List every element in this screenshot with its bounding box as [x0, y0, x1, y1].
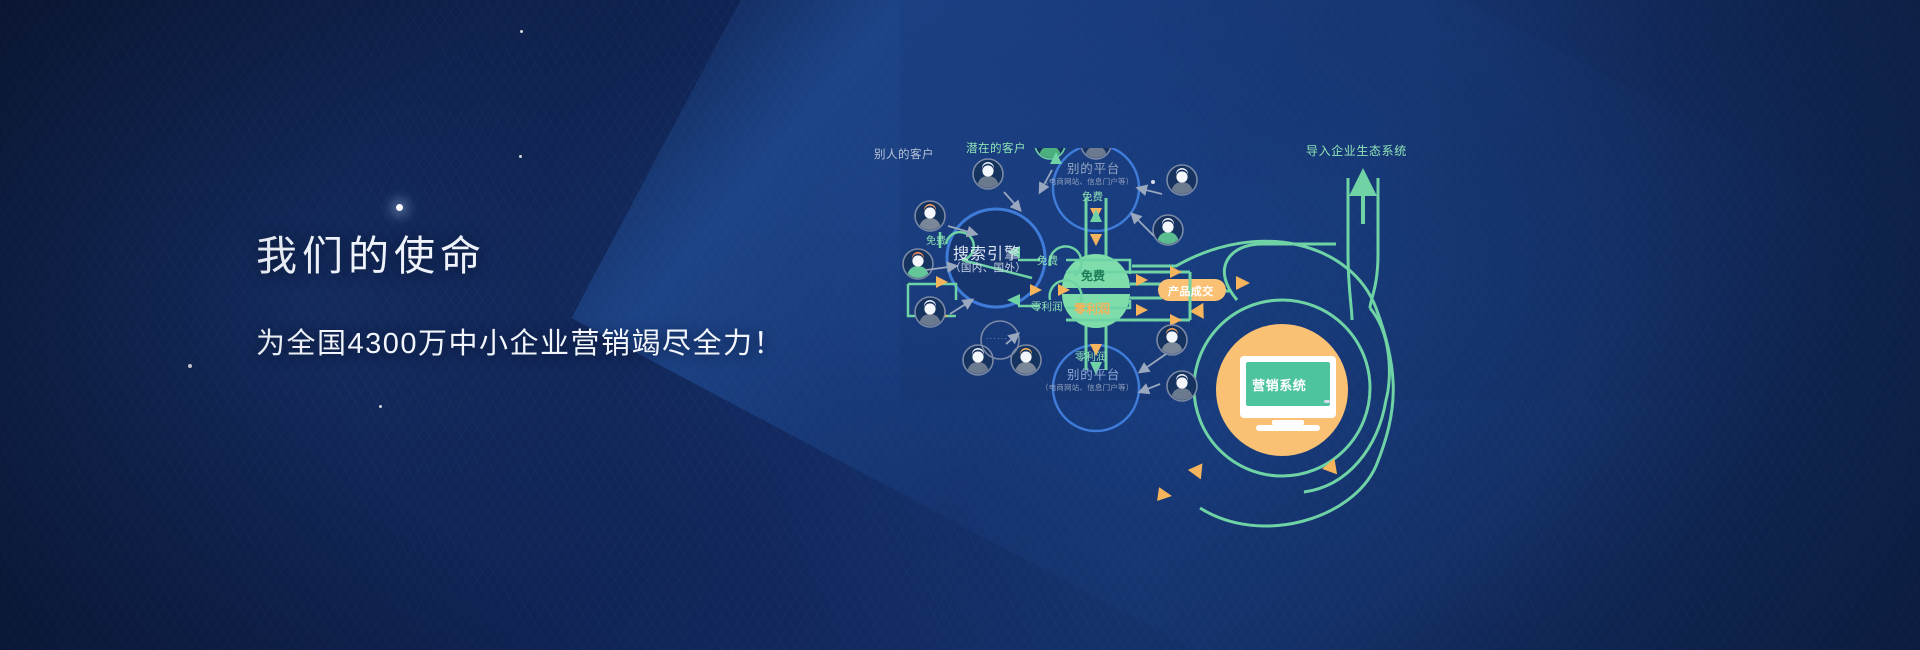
product-deal-badge — [1158, 279, 1226, 301]
platform-bottom-node — [1053, 345, 1139, 431]
avatar — [1011, 345, 1041, 375]
avatar — [1153, 215, 1183, 245]
loop-arrow-lower-left — [1188, 463, 1208, 482]
sparkle-dot — [519, 155, 522, 158]
sparkle-dot — [396, 204, 403, 211]
loop-arrow-upper-left — [1190, 299, 1211, 319]
page-title: 我们的使命 — [256, 222, 784, 282]
page-subtitle: 为全国4300万中小企业营销竭尽全力！ — [256, 320, 784, 362]
avatar — [1167, 165, 1197, 195]
avatar — [1157, 325, 1187, 355]
hero-copy: 我们的使命 为全国4300万中小企业营销竭尽全力！ — [256, 222, 784, 362]
avatar — [903, 249, 933, 279]
loop-arrow-top — [1236, 276, 1250, 290]
sparkle-dot — [379, 405, 382, 408]
loop-arrow-bottom — [1157, 487, 1173, 503]
avatar — [915, 297, 945, 327]
avatar — [1167, 371, 1197, 401]
avatar — [1035, 148, 1065, 159]
sparkle-dot — [188, 364, 192, 368]
hero-banner: 我们的使命 为全国4300万中小企业营销竭尽全力！ — [0, 0, 1920, 650]
avatar — [915, 201, 945, 231]
sparkle-dot — [520, 30, 523, 33]
hub-node — [1062, 254, 1130, 328]
avatar — [973, 159, 1003, 189]
marketing-ecosystem-diagram: 别人的客户 潜在的客户 导入企业生态系统 搜索引擎 （国内、国外） 别的平台 （… — [900, 148, 1540, 568]
avatar — [1081, 148, 1111, 159]
